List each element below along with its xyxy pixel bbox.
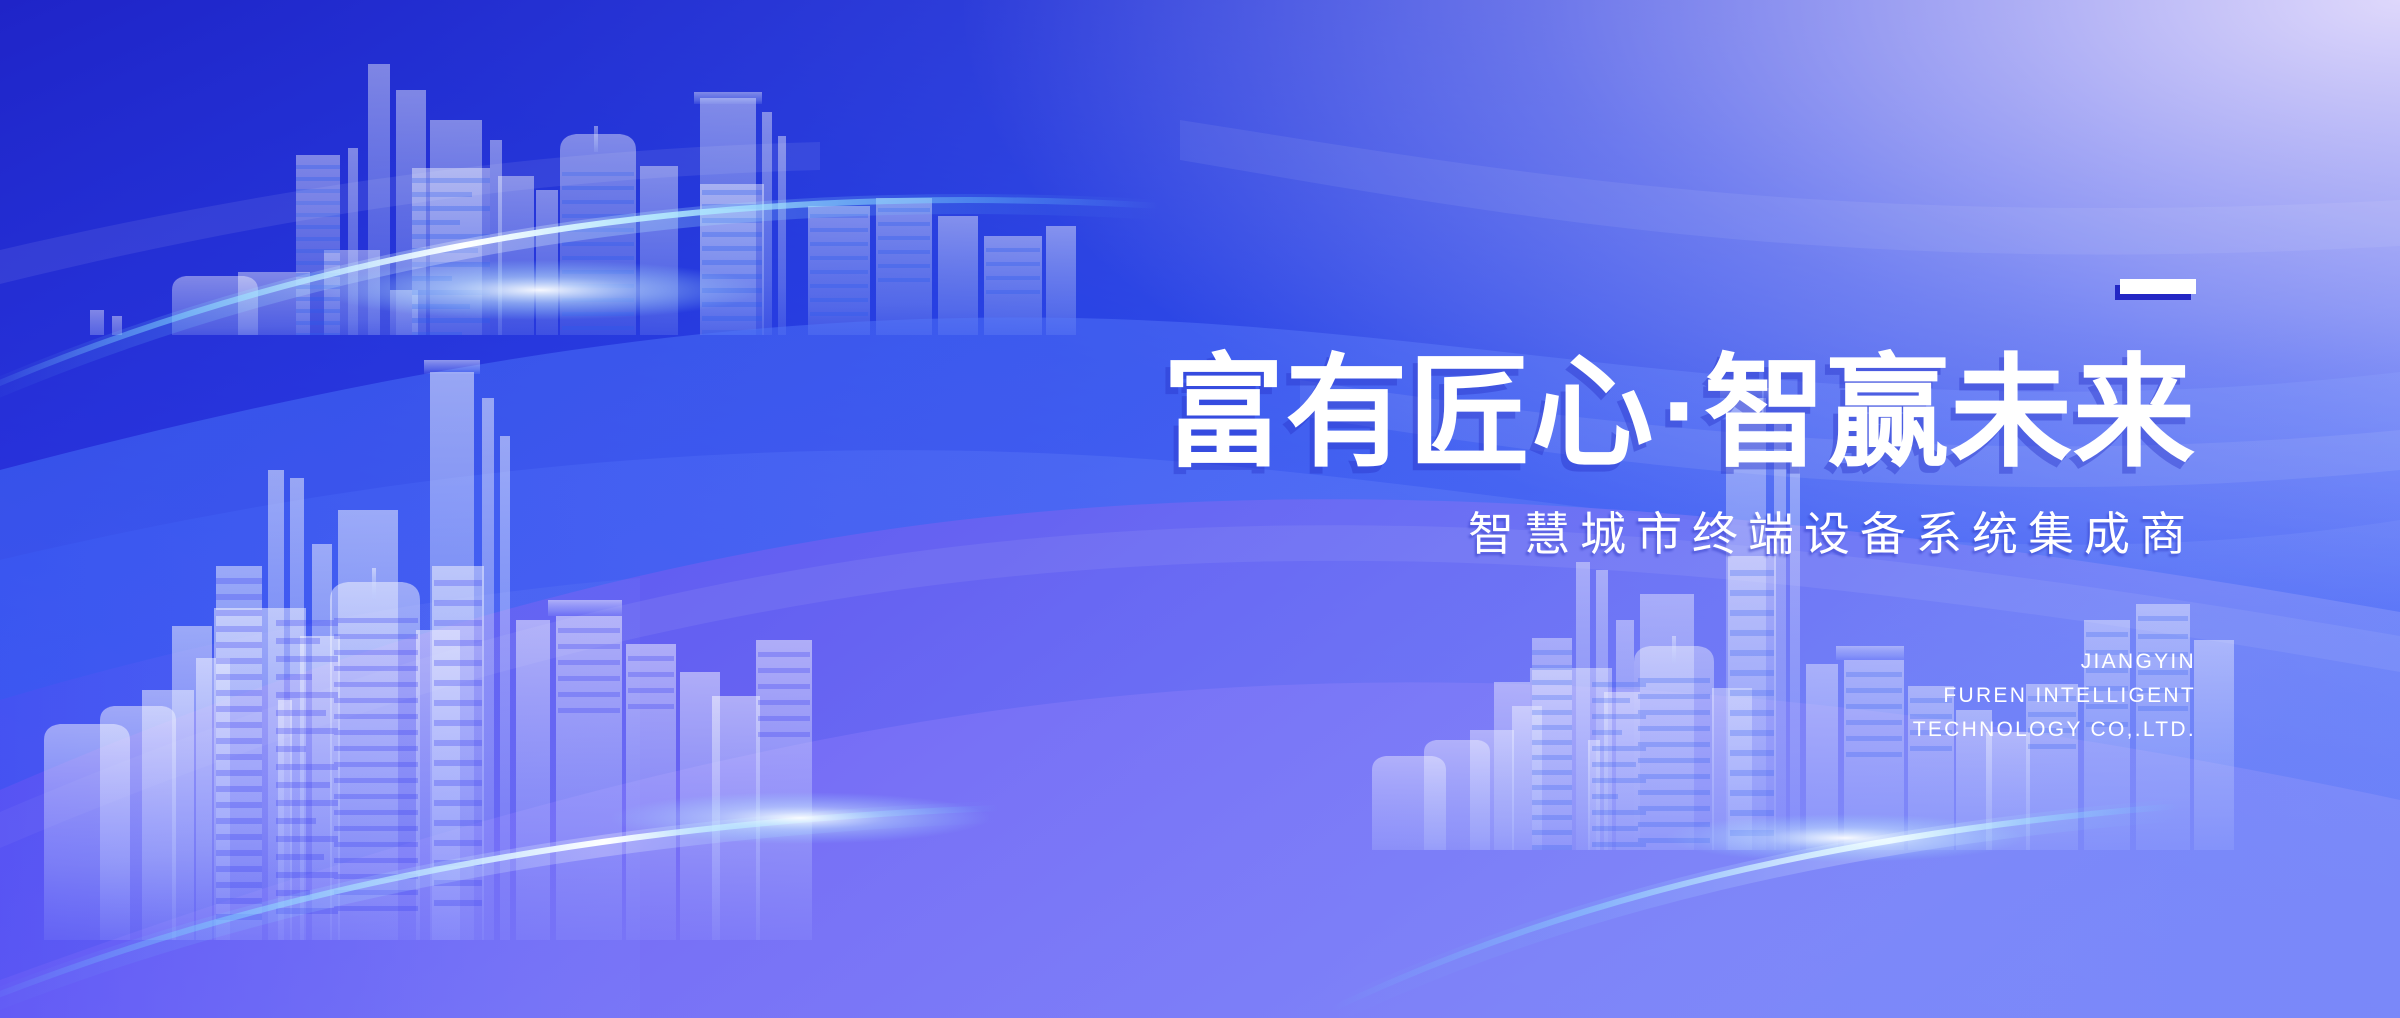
headline-separator: · xyxy=(1655,356,1704,468)
company-name-block: JIANGYIN FUREN INTELLIGENT TECHNOLOGY CO… xyxy=(1700,645,2196,747)
headline-right: 智赢未来 xyxy=(1704,342,2196,484)
company-line-2: FUREN INTELLIGENT xyxy=(1700,679,2196,713)
promotional-banner: 富有匠心·智赢未来 智慧城市终端设备系统集成商 JIANGYIN FUREN I… xyxy=(0,0,2400,1018)
page-title: 富有匠心·智赢未来 xyxy=(940,352,2196,474)
page-subtitle: 智慧城市终端设备系统集成商 xyxy=(1100,509,2196,560)
company-line-1: JIANGYIN xyxy=(1700,645,2196,679)
company-line-3: TECHNOLOGY CO,.LTD. xyxy=(1700,713,2196,747)
headline-left: 富有匠心 xyxy=(1163,342,1655,484)
dash-accent-icon xyxy=(2120,279,2196,294)
